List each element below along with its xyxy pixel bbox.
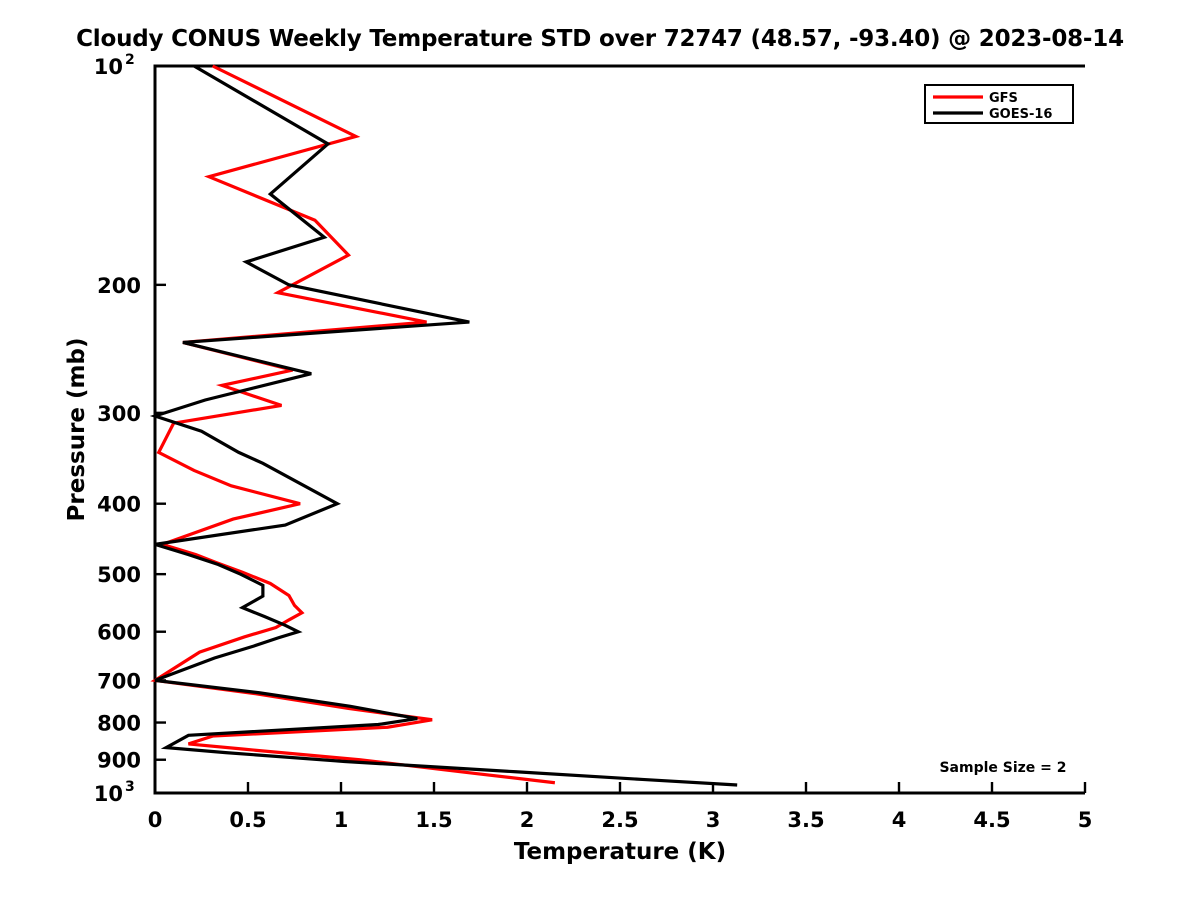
x-tick-label: 2.5: [601, 808, 638, 832]
x-tick-label: 1.5: [415, 808, 452, 832]
y-axis-label: Pressure (mb): [64, 338, 90, 522]
x-tick-label: 0: [148, 808, 163, 832]
sample-size-annotation: Sample Size = 2: [939, 760, 1066, 776]
y-tick-label: 700: [97, 669, 141, 693]
x-tick-label: 0.5: [229, 808, 266, 832]
x-tick-label: 4: [892, 808, 907, 832]
x-tick-label: 3: [706, 808, 721, 832]
y-tick-label: 800: [97, 712, 141, 736]
svg-text:3: 3: [125, 779, 135, 795]
series-line-gfs: [155, 66, 555, 783]
y-tick-label: 500: [97, 563, 141, 587]
legend-label-gfs: GFS: [989, 91, 1018, 106]
legend-label-goes-16: GOES-16: [989, 107, 1052, 122]
series-line-goes-16: [155, 66, 737, 785]
y-tick-label: 300: [97, 402, 141, 426]
y-tick-label: 400: [97, 493, 141, 517]
y-tick-label: 103: [94, 779, 135, 806]
x-tick-label: 3.5: [787, 808, 824, 832]
chart-page: Cloudy CONUS Weekly Temperature STD over…: [0, 0, 1200, 900]
sample-size-label: Sample Size = 2: [939, 760, 1066, 776]
x-axis-label: Temperature (K): [514, 839, 726, 865]
chart-plot: 00.511.522.533.544.55Temperature (K)1022…: [0, 0, 1200, 900]
x-tick-label: 4.5: [973, 808, 1010, 832]
svg-text:10: 10: [94, 55, 123, 79]
svg-text:10: 10: [94, 782, 123, 806]
y-tick-label: 900: [97, 749, 141, 773]
x-tick-label: 5: [1078, 808, 1093, 832]
svg-text:2: 2: [125, 52, 135, 68]
y-tick-label: 102: [94, 52, 135, 79]
y-tick-label: 600: [97, 621, 141, 645]
chart-legend[interactable]: GFSGOES-16: [925, 85, 1073, 123]
x-tick-label: 1: [334, 808, 349, 832]
y-tick-label: 200: [97, 274, 141, 298]
x-tick-label: 2: [520, 808, 535, 832]
series-group: [155, 66, 737, 785]
